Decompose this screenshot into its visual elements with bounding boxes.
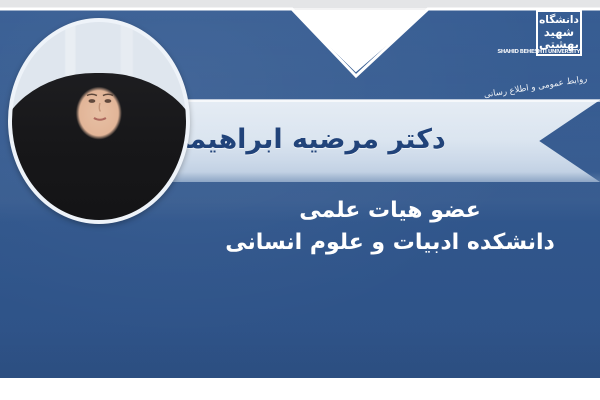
portrait-photo [12,22,186,220]
bottom-white-strip [0,378,600,400]
subtitle-faculty: دانشکده ادبیات و علوم انسانی [200,228,580,258]
avatar [8,18,190,224]
announcement-card: دانشگاه شهید بهشتی SHAHID BEHESHTI UNIVE… [0,0,600,400]
top-background-strip [0,0,600,10]
subtitle-role: عضو هیات علمی [200,196,580,226]
subtitle-block: عضو هیات علمی دانشکده ادبیات و علوم انسا… [200,196,580,257]
ribbon-top-highlight [150,99,600,102]
page-title: دکتر مرضیه ابراهیمی [150,104,570,176]
